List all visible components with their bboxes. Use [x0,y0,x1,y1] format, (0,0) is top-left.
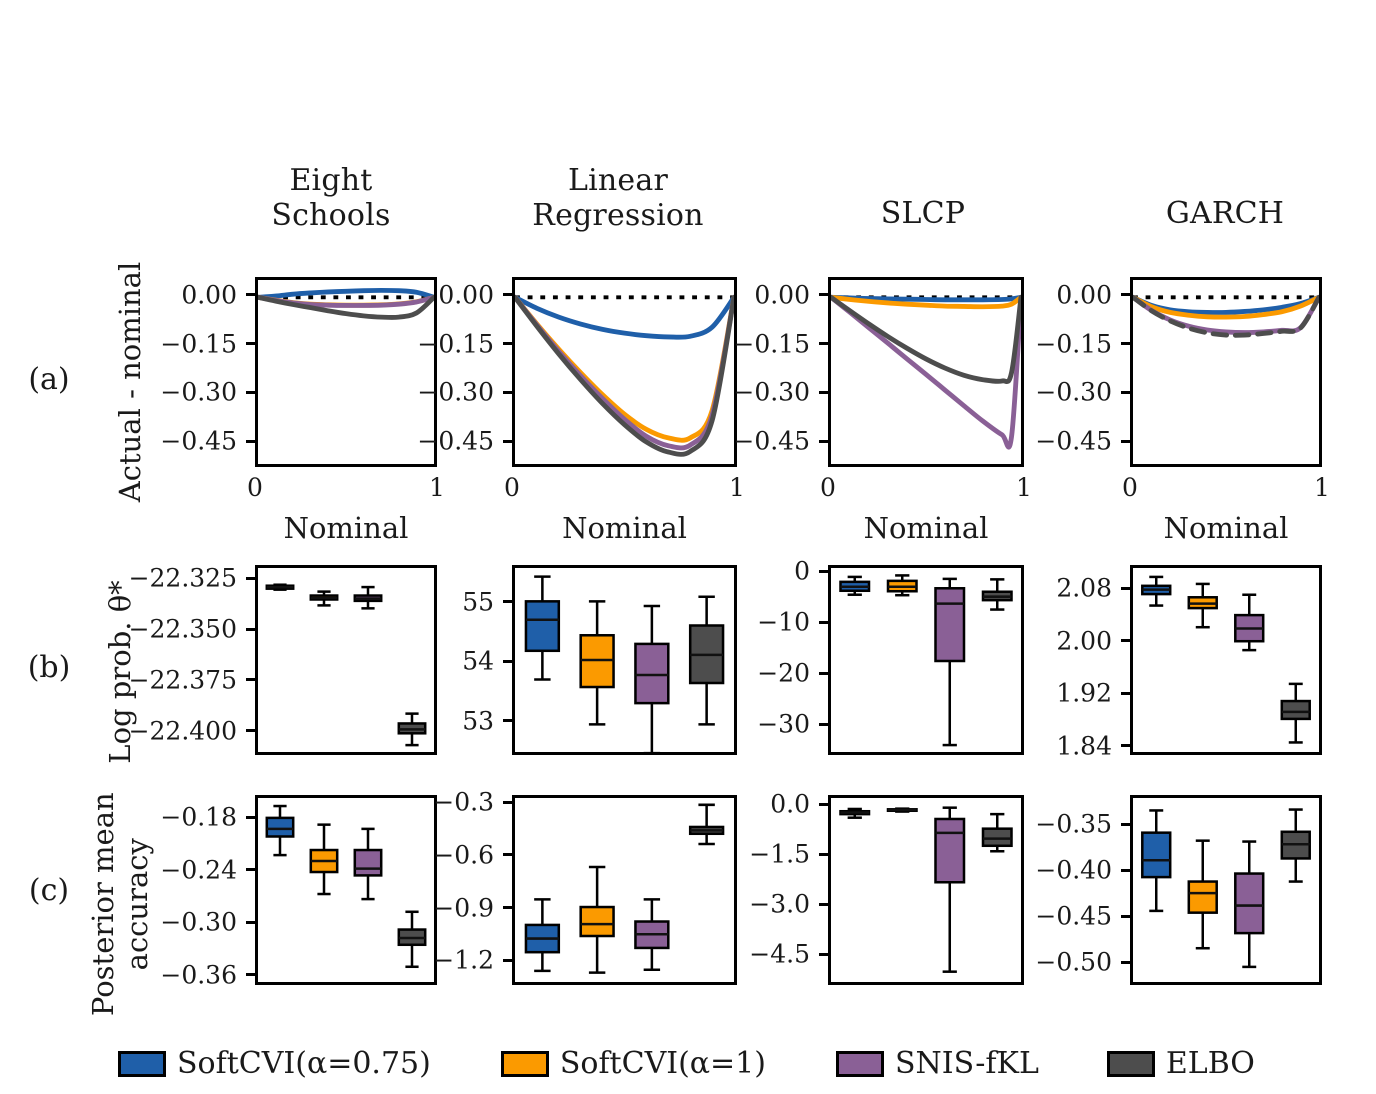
y-tick-label: 1.92 [900,679,1112,708]
boxplot-2 [1235,595,1263,650]
y-tick [819,391,828,394]
y-tick-label: −0.40 [900,856,1112,885]
y-tick [503,660,512,663]
y-tick [503,293,512,296]
box-body [1189,882,1217,913]
y-tick-label: −0.3 [282,788,494,817]
y-tick [819,621,828,624]
y-tick [819,440,828,443]
plot-panel-a-garch [1130,277,1322,467]
x-tick-label: 0 [1122,473,1138,502]
boxplot-3 [1282,810,1310,882]
column-title-line1: Eight [236,163,426,198]
boxplot-3 [1282,684,1310,743]
x-axis-title: Nominal [215,511,477,545]
legend-swatch-1 [501,1051,549,1077]
y-tick [819,293,828,296]
y-tick-label: −0.15 [900,329,1112,358]
x-tick-label: 0 [247,473,263,502]
y-tick [1121,587,1130,590]
y-tick [246,293,255,296]
legend-label-0: SoftCVI(α=0.75) [177,1046,431,1081]
boxplot-0 [1142,577,1170,606]
y-tick-label: −22.375 [25,665,237,694]
y-tick-label: −0.35 [900,810,1112,839]
x-axis-title: Nominal [788,511,1064,545]
y-tick-label: −0.9 [282,893,494,922]
legend-label-2: SNIS-fKL [895,1046,1039,1081]
column-title-line1: SLCP [828,196,1018,231]
y-tick-label: −22.400 [25,716,237,745]
y-tick-label: −0.15 [282,329,494,358]
y-tick [246,678,255,681]
box-body [526,601,559,650]
y-tick-label: −0.15 [598,329,810,358]
plot-panel-b-garch [1130,565,1322,755]
y-tick-label: −0.45 [25,427,237,456]
y-tick-label: −20 [598,659,810,688]
y-tick [503,719,512,722]
y-tick-label: −0.30 [25,378,237,407]
y-tick [819,672,828,675]
y-tick [1121,869,1130,872]
y-tick [503,906,512,909]
y-tick [503,440,512,443]
legend-swatch-3 [1107,1051,1155,1077]
y-tick [246,342,255,345]
y-tick-label: 0.00 [900,280,1112,309]
y-tick-label: 2.08 [900,574,1112,603]
y-tick [1121,915,1130,918]
x-axis-title: Nominal [1090,511,1362,545]
y-tick-label: 2.00 [900,626,1112,655]
y-tick [819,570,828,573]
y-tick [1121,744,1130,747]
y-tick-label: −0.15 [25,329,237,358]
y-tick [246,391,255,394]
boxplot-1 [1189,584,1217,627]
column-title-linear-regression: Linear Regression [513,163,723,234]
boxplot-0 [526,899,559,971]
box-body [1282,701,1310,719]
column-title-line1: GARCH [1125,196,1325,231]
column-title-line2: Regression [513,198,723,233]
y-tick-label: −0.18 [25,803,237,832]
y-tick-label: −4.5 [598,940,810,969]
y-tick [246,440,255,443]
box-body [1142,833,1170,877]
boxplot-0 [841,809,870,818]
plot-area-c-garch [1133,798,1319,982]
y-tick-label: −0.45 [598,427,810,456]
y-tick [503,342,512,345]
legend-swatch-2 [836,1051,884,1077]
y-tick-label: 0.00 [25,280,237,309]
y-tick [246,816,255,819]
y-tick-label: 0.0 [598,790,810,819]
boxplot-0 [526,577,559,680]
y-tick-label: −0.45 [900,902,1112,931]
legend-swatch-0 [118,1051,166,1077]
legend-label-1: SoftCVI(α=1) [560,1046,766,1081]
y-tick-label: −0.30 [25,908,237,937]
y-tick [503,853,512,856]
y-tick [503,959,512,962]
x-tick-label: 1 [729,473,745,502]
y-tick-label: −0.30 [598,378,810,407]
y-tick-label: −0.45 [282,427,494,456]
y-tick [819,853,828,856]
column-title-line1: Linear [513,163,723,198]
column-title-eight-schools: Eight Schools [236,163,426,234]
y-tick-label: −0.36 [25,960,237,989]
y-tick [1121,293,1130,296]
y-tick [1121,440,1130,443]
y-tick-label: −0.30 [900,378,1112,407]
box-body [267,818,293,837]
y-tick-label: −1.5 [598,840,810,869]
legend-label-3: ELBO [1166,1046,1255,1081]
column-title-garch: GARCH [1125,196,1325,231]
y-tick [819,342,828,345]
y-tick [1121,342,1130,345]
y-tick-label: −1.2 [282,946,494,975]
y-tick [503,801,512,804]
y-tick [819,903,828,906]
boxplot-0 [1142,810,1170,910]
plot-area-b-garch [1133,568,1319,752]
y-tick-label: −0.45 [900,427,1112,456]
y-tick-label: −30 [598,710,810,739]
y-tick-label: 1.84 [900,731,1112,760]
boxplot-2 [936,579,965,745]
plot-panel-c-garch [1130,795,1322,985]
y-tick-label: 55 [282,587,494,616]
box-body [1235,874,1263,934]
column-title-slcp: SLCP [828,196,1018,231]
y-tick-label: 54 [282,647,494,676]
x-tick-label: 1 [1016,473,1032,502]
x-axis-title: Nominal [472,511,777,545]
figure-root: Eight Schools Linear Regression SLCP GAR… [0,0,1376,1094]
y-tick [1121,823,1130,826]
y-tick-label: −3.0 [598,890,810,919]
plot-area-a-garch [1133,280,1319,464]
boxplot-2 [1235,842,1263,967]
y-tick-label: −0.50 [900,948,1112,977]
legend-item-1: SoftCVI(α=1) [501,1046,766,1081]
legend-item-3: ELBO [1107,1046,1255,1081]
y-tick [246,577,255,580]
y-tick-label: −0.6 [282,840,494,869]
y-tick [246,729,255,732]
y-tick-label: 0.00 [282,280,494,309]
y-tick-label: −10 [598,608,810,637]
y-tick [246,921,255,924]
x-tick-label: 1 [429,473,445,502]
y-tick-label: 0.00 [598,280,810,309]
y-tick [246,868,255,871]
y-tick [1121,961,1130,964]
x-tick-label: 1 [1314,473,1330,502]
y-tick [503,600,512,603]
y-tick [819,803,828,806]
y-tick [503,391,512,394]
legend-item-0: SoftCVI(α=0.75) [118,1046,431,1081]
y-tick-label: −22.350 [25,615,237,644]
column-title-line2: Schools [236,198,426,233]
y-tick-label: −0.24 [25,855,237,884]
y-tick [819,723,828,726]
y-tick-label: −0.30 [282,378,494,407]
y-tick-label: −22.325 [25,564,237,593]
boxplot-1 [1189,841,1217,949]
y-tick-label: 0 [598,557,810,586]
x-tick-label: 0 [820,473,836,502]
y-tick-label: 53 [282,706,494,735]
y-tick [819,953,828,956]
boxplot-0 [841,577,870,595]
y-tick [1121,692,1130,695]
y-tick [246,973,255,976]
legend: SoftCVI(α=0.75)SoftCVI(α=1)SNIS-fKLELBO [118,1046,1255,1081]
x-tick-label: 0 [504,473,520,502]
y-tick [246,628,255,631]
y-tick [1121,639,1130,642]
legend-item-2: SNIS-fKL [836,1046,1039,1081]
y-tick [1121,391,1130,394]
